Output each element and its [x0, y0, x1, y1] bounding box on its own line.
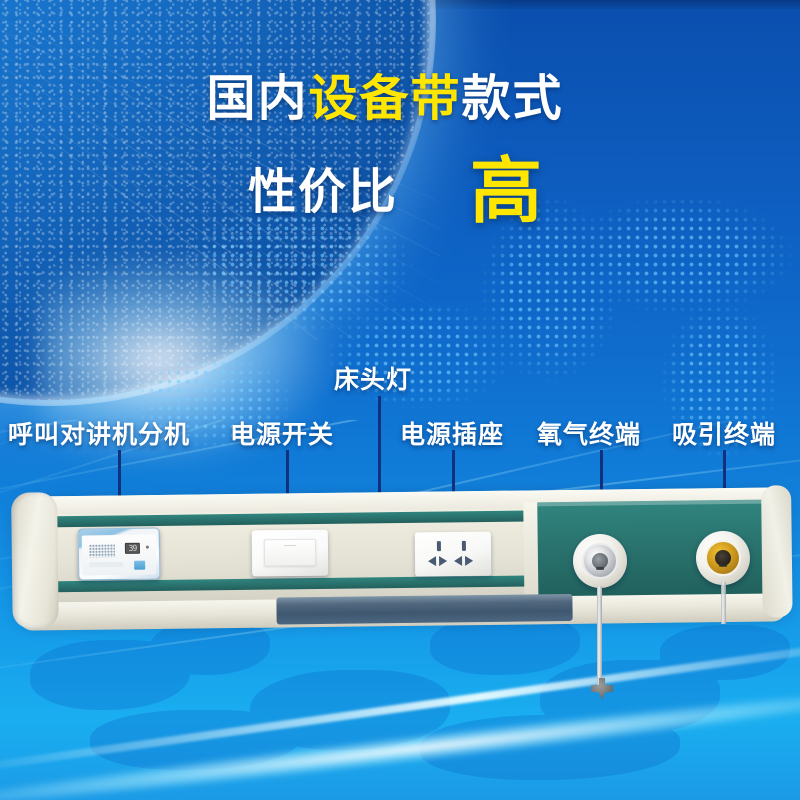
suction-terminal-icon[interactable]	[696, 531, 751, 586]
suction-terminal-marking	[719, 564, 727, 567]
hanging-hose-right	[721, 582, 726, 624]
power-switch-plate[interactable]	[252, 530, 328, 577]
oxygen-terminal-icon[interactable]	[573, 534, 628, 589]
call-button-icon[interactable]	[134, 561, 145, 570]
panel-center-dark-band	[276, 594, 572, 625]
outlet-pin-slots	[432, 541, 474, 551]
callout-label-power-outlet: 电源插座	[400, 415, 504, 451]
panel-end-cap-left	[11, 492, 59, 629]
hanging-hose-left	[597, 586, 602, 686]
callout-label-suction: 吸引终端	[672, 415, 776, 451]
intercom-faceplate: 39	[82, 534, 157, 575]
callout-label-bed-lamp: 床头灯	[334, 360, 412, 396]
intercom-display: 39	[125, 543, 140, 554]
oxygen-terminal-marking	[596, 567, 604, 570]
callout-label-oxygen: 氧气终端	[537, 415, 641, 451]
panel-end-cap-right	[761, 485, 793, 617]
status-led-icon	[146, 546, 149, 549]
oxygen-terminal-inner	[582, 543, 618, 579]
speaker-grille-icon	[89, 544, 115, 557]
callout-label-power-switch: 电源开关	[230, 415, 334, 451]
callout-layer: 呼叫对讲机分机 电源开关 床头灯 电源插座 氧气终端 吸引终端	[0, 0, 800, 800]
callout-label-intercom: 呼叫对讲机分机	[8, 415, 190, 451]
promo-image-canvas: 国内设备带款式 性价比 高 呼叫对讲机分机 电源开关 床头灯 电源插座 氧气终端…	[0, 0, 800, 800]
suction-terminal-inner	[705, 540, 741, 576]
outlet-angled-slots	[428, 555, 478, 566]
power-outlet-plate[interactable]	[415, 532, 491, 577]
rocker-switch-icon[interactable]	[264, 539, 316, 567]
switch-indicator-line	[284, 545, 296, 546]
nurse-call-intercom-unit[interactable]: 39	[78, 527, 161, 580]
intercom-label-strip	[89, 562, 123, 567]
